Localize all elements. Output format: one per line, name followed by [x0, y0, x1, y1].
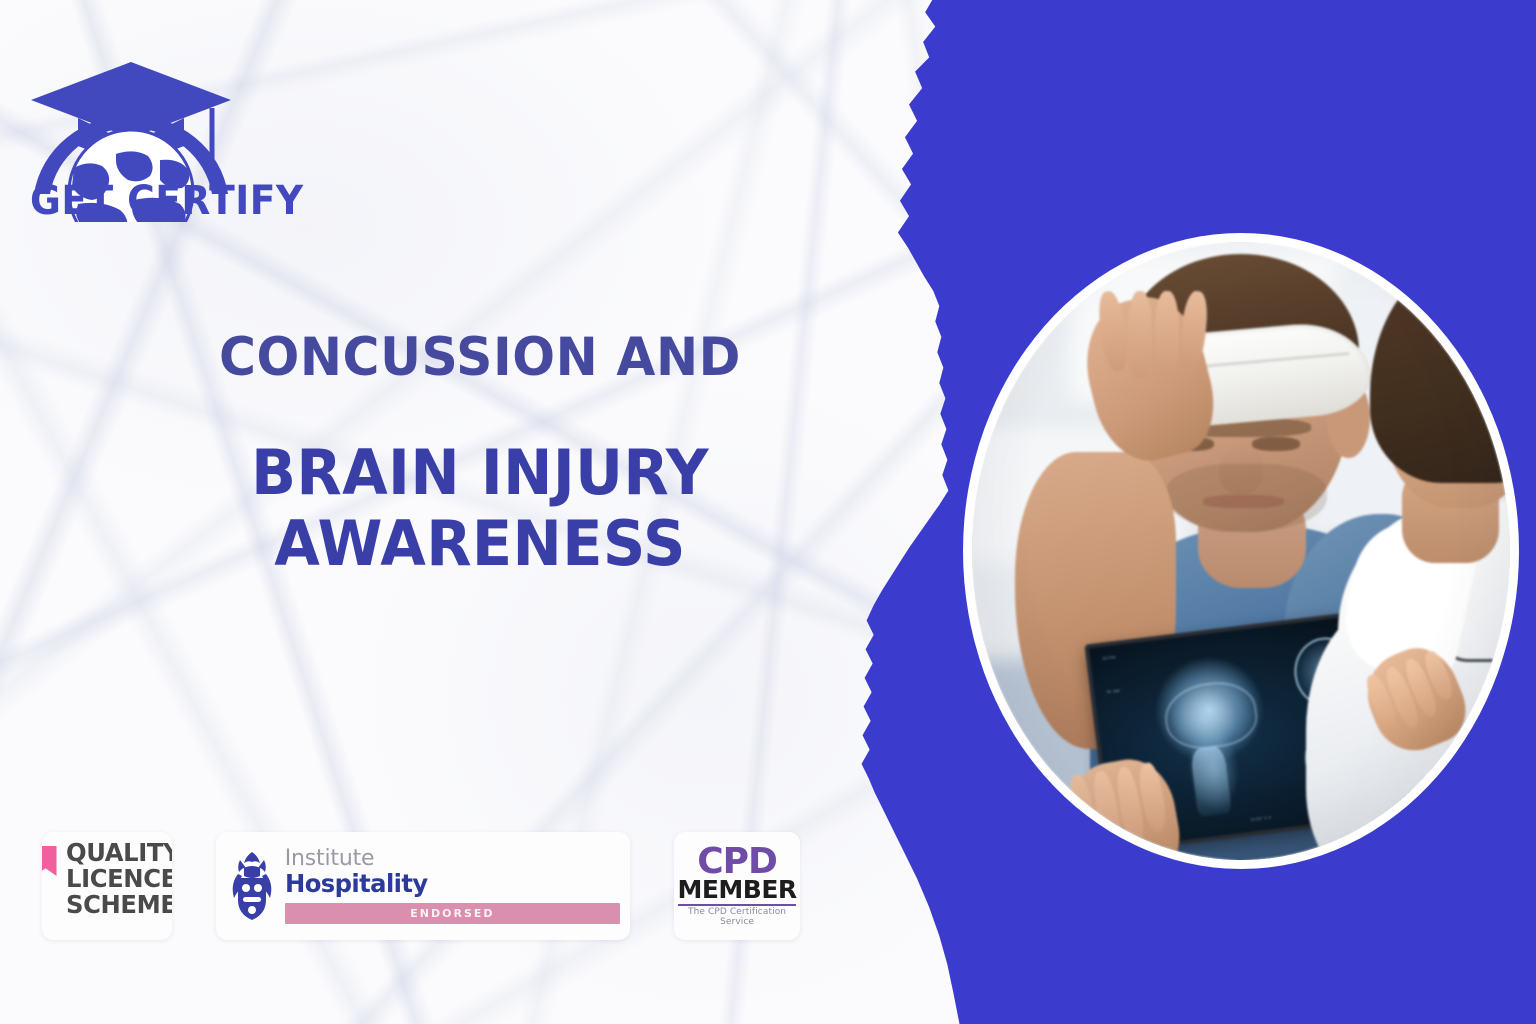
- cpd-line-2: MEMBER: [677, 877, 796, 902]
- brand-logo[interactable]: GET CERTIFY: [16, 42, 246, 222]
- ioh-line-1: Institute: [285, 848, 620, 870]
- accreditation-badges: QUALITY LICENCE SCHEME: [42, 832, 800, 940]
- cpd-line-4: Service: [677, 917, 796, 927]
- mri-label-2: TR 500: [1106, 689, 1120, 695]
- poster-title: CONCUSSION AND BRAIN INJURY AWARENESS: [120, 330, 840, 580]
- title-line-3: AWARENESS: [138, 509, 822, 580]
- badge-quality-licence-scheme[interactable]: QUALITY LICENCE SCHEME: [42, 832, 172, 940]
- ioh-endorsed-banner: ENDORSED: [285, 903, 620, 924]
- patient-mouth: [1203, 495, 1284, 507]
- course-promo-poster: GET CERTIFY CONCUSSION AND BRAIN INJURY …: [0, 0, 1536, 1024]
- cpd-divider: [678, 904, 796, 906]
- badge-quality-licence-scheme-text: QUALITY LICENCE SCHEME: [66, 840, 172, 917]
- pink-bookmark-ribbon-icon: [42, 846, 57, 876]
- ioh-line-2: Hospitality: [285, 871, 610, 897]
- hero-photo: SE/SAG TR 500 T1 FOV 24 512x512 SLICE 5.…: [972, 242, 1510, 860]
- title-line-1: CONCUSSION AND: [138, 330, 822, 386]
- qls-line-3: SCHEME: [66, 892, 172, 918]
- badge-cpd-member[interactable]: CPD MEMBER The CPD Certification Service: [674, 832, 800, 940]
- mri-label-6: SLICE 5.0: [1250, 816, 1271, 822]
- cpd-line-1: CPD: [677, 845, 796, 879]
- patient-right-eye: [1252, 437, 1300, 452]
- cpd-line-3: The CPD Certification: [677, 907, 796, 917]
- coat-of-arms-crest-icon: [226, 850, 278, 922]
- badge-institute-of-hospitality[interactable]: Institute Hospitality ENDORSED: [216, 832, 630, 940]
- qls-line-1: QUALITY: [66, 840, 172, 866]
- mri-label-1: SE/SAG: [1102, 655, 1116, 661]
- photo-ring: SE/SAG TR 500 T1 FOV 24 512x512 SLICE 5.…: [963, 233, 1519, 869]
- title-line-2: BRAIN INJURY: [138, 438, 822, 509]
- qls-line-2: LICENCE: [66, 866, 172, 892]
- patient-fingers: [1101, 291, 1209, 371]
- brand-name: GET CERTIFY: [30, 178, 304, 224]
